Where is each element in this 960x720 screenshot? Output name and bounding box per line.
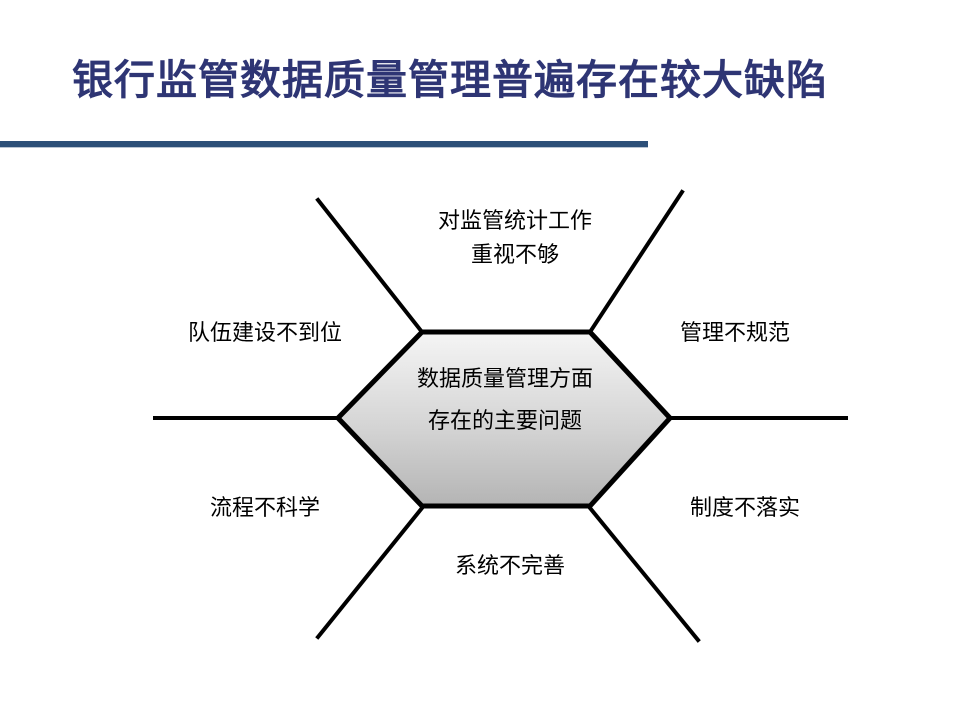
branch-label-left-top: 队伍建设不到位: [150, 317, 380, 351]
branch-label-top-line2: 重视不够: [471, 243, 559, 268]
page-title: 银行监管数据质量管理普遍存在较大缺陷: [0, 56, 900, 105]
fishbone-diagram: 对监管统计工作 重视不够 队伍建设不到位 管理不规范 流程不科学 制度不落实 系…: [0, 150, 960, 720]
title-area: 银行监管数据质量管理普遍存在较大缺陷: [0, 0, 960, 150]
core-hexagon-text: 数据质量管理方面 存在的主要问题: [340, 359, 670, 443]
branch-label-left-bottom: 流程不科学: [150, 492, 380, 526]
core-text-line2: 存在的主要问题: [340, 401, 670, 443]
branch-label-top: 对监管统计工作 重视不够: [390, 205, 640, 273]
branch-label-right-bottom-line1: 制度不落实: [690, 496, 800, 521]
branch-label-bottom: 系统不完善: [400, 550, 620, 584]
core-text-line1: 数据质量管理方面: [340, 359, 670, 401]
slide-canvas: 银行监管数据质量管理普遍存在较大缺陷: [0, 0, 960, 720]
branch-label-right-bottom: 制度不落实: [640, 492, 850, 526]
branch-label-right-top-line1: 管理不规范: [680, 321, 790, 346]
branch-label-top-line1: 对监管统计工作: [438, 209, 592, 234]
branch-label-left-bottom-line1: 流程不科学: [210, 496, 320, 521]
title-divider: [0, 141, 648, 148]
branch-label-left-top-line1: 队伍建设不到位: [188, 321, 342, 346]
branch-label-right-top: 管理不规范: [630, 317, 840, 351]
branch-label-bottom-line1: 系统不完善: [455, 554, 565, 579]
